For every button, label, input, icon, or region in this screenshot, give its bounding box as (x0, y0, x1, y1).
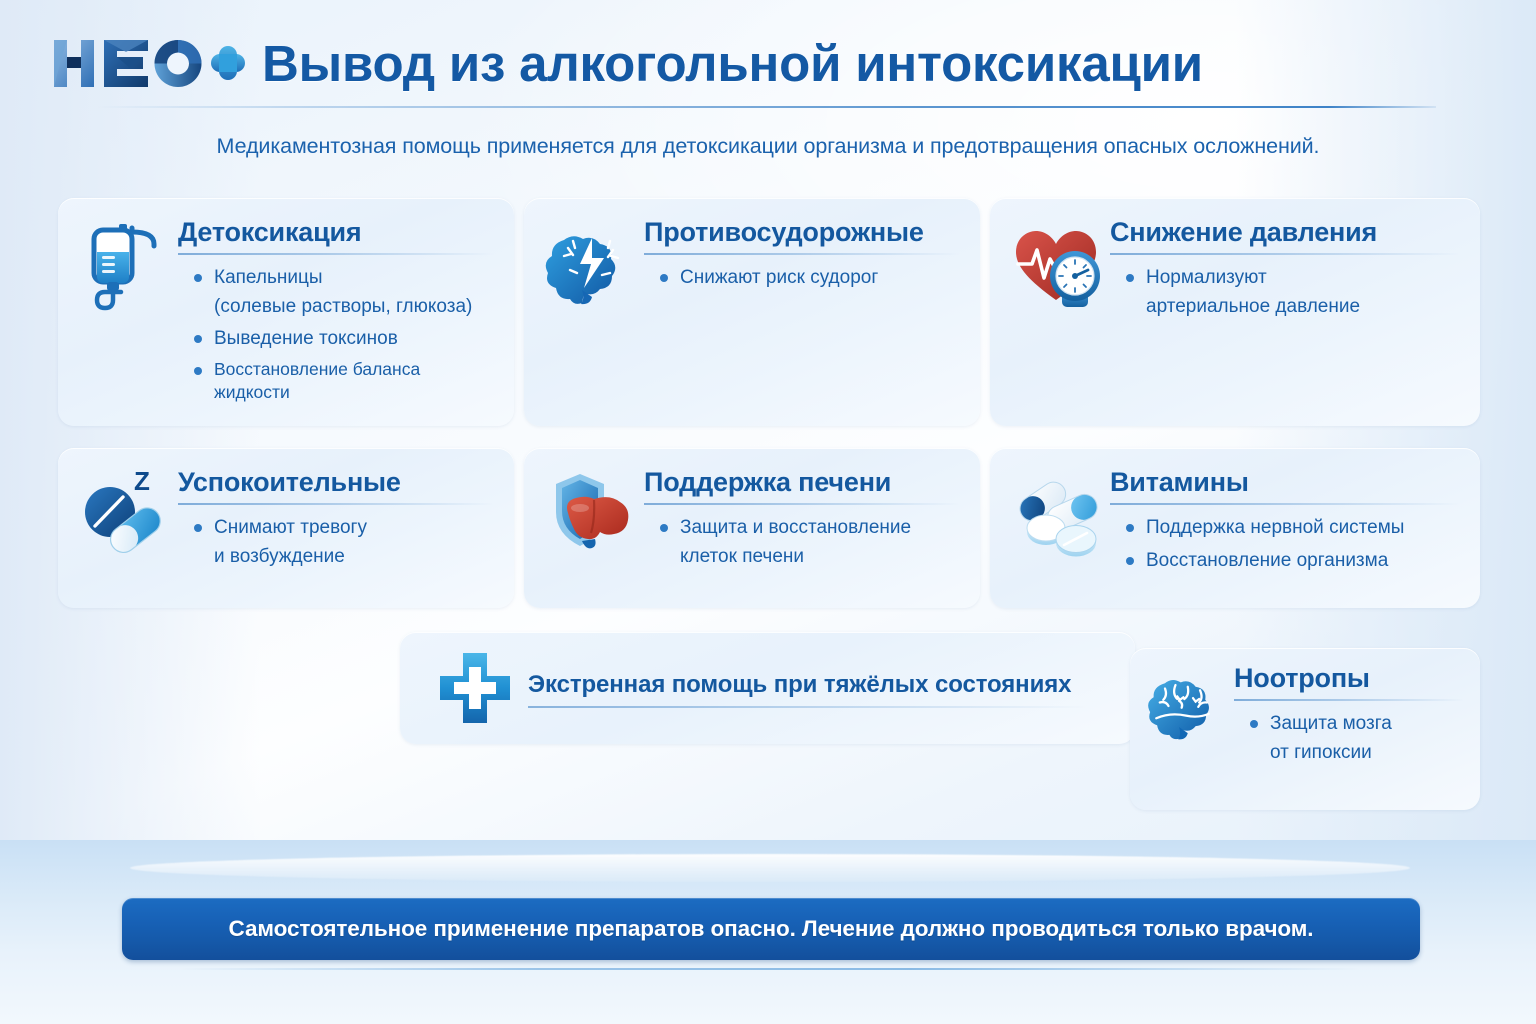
card-body: Противосудорожные Снижают риск судорог (644, 216, 960, 298)
card-blood-pressure[interactable]: Снижение давления Нормализуют артериальн… (990, 198, 1480, 426)
card-body: Ноотропы Защита мозга от гипоксии (1234, 662, 1464, 772)
heart-pressure-gauge-icon (1008, 218, 1104, 314)
card-title: Снижение давления (1110, 218, 1460, 246)
warning-banner[interactable]: Самостоятельное применение препаратов оп… (122, 898, 1420, 960)
card-divider (1110, 253, 1460, 255)
sleeping-pills-icon: Z (76, 468, 172, 564)
list-item: Снимают тревогу (192, 515, 494, 540)
brain-icon (1144, 664, 1228, 748)
emergency-text-wrap: Экстренная помощь при тяжёлых состояниях (528, 669, 1088, 708)
list-item: от гипоксии (1248, 740, 1464, 765)
brain-lightning-icon (542, 218, 638, 314)
card-divider (178, 253, 494, 255)
card-row-1: Детоксикация Капельницы (солевые раствор… (58, 198, 1480, 426)
card-sedatives[interactable]: Z Успокоительные Снимают тревогу и возбу… (58, 448, 514, 608)
card-nootropics[interactable]: Ноотропы Защита мозга от гипоксии (1130, 648, 1480, 810)
page-subtitle: Медикаментозная помощь применяется для д… (0, 134, 1536, 159)
liver-shield-icon (542, 468, 638, 564)
warning-text: Самостоятельное применение препаратов оп… (229, 916, 1314, 942)
iv-drip-icon (76, 218, 172, 314)
card-bullet-list: Защита мозга от гипоксии (1248, 711, 1464, 765)
card-title: Поддержка печени (644, 468, 960, 496)
card-title: Витамины (1110, 468, 1460, 496)
card-bullet-list: Снимают тревогу и возбуждение (192, 515, 494, 569)
neo-plus-logo (48, 32, 248, 94)
list-item: Выведение токсинов (192, 326, 494, 351)
emergency-help-label: Экстренная помощь при тяжёлых состояниях (528, 671, 1088, 699)
list-item: и возбуждение (192, 544, 494, 569)
list-item: Защита и восстановление (658, 515, 960, 540)
vitamin-pills-icon (1008, 468, 1104, 564)
list-item: Защита мозга (1248, 711, 1464, 736)
svg-text:Z: Z (134, 468, 150, 496)
card-divider (644, 253, 960, 255)
card-bullet-list: Защита и восстановление клеток печени (658, 515, 960, 569)
card-divider (644, 503, 960, 505)
emergency-help-banner[interactable]: Экстренная помощь при тяжёлых состояниях (400, 632, 1135, 744)
card-anticonvulsants[interactable]: Противосудорожные Снижают риск судорог (524, 198, 980, 426)
header: Вывод из алкогольной интоксикации (0, 0, 1536, 112)
card-detoxification[interactable]: Детоксикация Капельницы (солевые раствор… (58, 198, 514, 426)
card-divider (178, 503, 494, 505)
card-bullet-list: Нормализуют артериальное давление (1124, 265, 1460, 319)
header-divider (96, 106, 1436, 108)
list-item: Поддержка нервной системы (1124, 515, 1460, 540)
card-divider (1110, 503, 1460, 505)
card-body: Детоксикация Капельницы (солевые раствор… (178, 216, 494, 412)
medical-cross-icon (436, 649, 514, 727)
card-title: Детоксикация (178, 218, 494, 246)
list-item: Капельницы (192, 265, 494, 290)
list-item: Восстановление баланса жидкости (192, 358, 494, 405)
card-body: Поддержка печени Защита и восстановление… (644, 466, 960, 576)
footer-arc-decoration (130, 854, 1410, 882)
card-grid: Детоксикация Капельницы (солевые раствор… (58, 198, 1480, 608)
list-item: (солевые растворы, глюкоза) (192, 294, 494, 319)
card-bullet-list: Капельницы (солевые растворы, глюкоза) В… (192, 265, 494, 404)
card-bullet-list: Поддержка нервной системы Восстановление… (1124, 515, 1460, 573)
card-title: Успокоительные (178, 468, 494, 496)
card-liver-support[interactable]: Поддержка печени Защита и восстановление… (524, 448, 980, 608)
card-divider (1234, 699, 1464, 701)
card-body: Успокоительные Снимают тревогу и возбужд… (178, 466, 494, 576)
list-item: Нормализуют (1124, 265, 1460, 290)
card-body: Снижение давления Нормализуют артериальн… (1110, 216, 1460, 326)
page-title: Вывод из алкогольной интоксикации (262, 34, 1203, 93)
emergency-divider (528, 706, 1088, 708)
card-bullet-list: Снижают риск судорог (658, 265, 960, 290)
card-vitamins[interactable]: Витамины Поддержка нервной системы Восст… (990, 448, 1480, 608)
list-item: Восстановление организма (1124, 548, 1460, 573)
card-row-2: Z Успокоительные Снимают тревогу и возбу… (58, 448, 1480, 608)
list-item: артериальное давление (1124, 294, 1460, 319)
card-title: Ноотропы (1234, 664, 1464, 692)
list-item: Снижают риск судорог (658, 265, 960, 290)
card-body: Витамины Поддержка нервной системы Восст… (1110, 466, 1460, 580)
footer-underline (180, 968, 1360, 970)
list-item: клеток печени (658, 544, 960, 569)
card-title: Противосудорожные (644, 218, 960, 246)
